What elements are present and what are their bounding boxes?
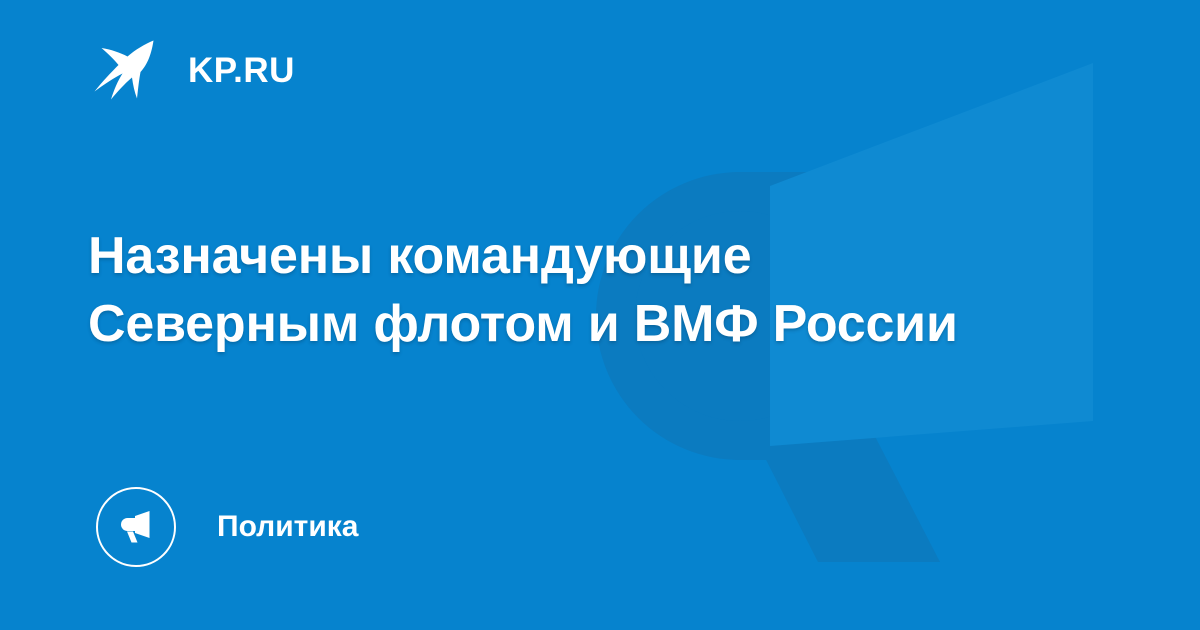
- page-title-line-1: Назначены командующие: [88, 222, 1108, 290]
- article-share-card: KP.RU Назначены командующие Северным фло…: [0, 0, 1200, 630]
- megaphone-icon: [114, 505, 158, 549]
- swallow-bird-icon: [90, 32, 166, 108]
- category-tag[interactable]: Политика: [96, 486, 358, 568]
- brand-name: KP.RU: [188, 53, 295, 88]
- category-badge: [96, 487, 176, 567]
- category-label: Политика: [217, 512, 358, 542]
- brand-header[interactable]: KP.RU: [90, 34, 295, 106]
- megaphone-watermark-handle: [700, 330, 940, 562]
- page-title-line-2: Северным флотом и ВМФ России: [88, 290, 1108, 358]
- page-title: Назначены командующие Северным флотом и …: [88, 222, 1108, 358]
